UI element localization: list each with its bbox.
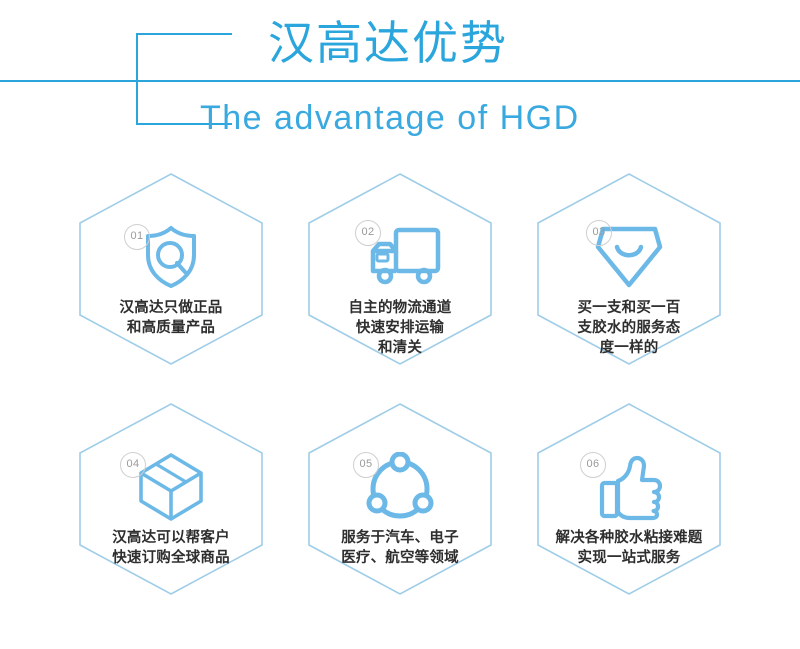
card-caption: 自主的物流通道 快速安排运输 和清关 xyxy=(299,298,501,358)
caption-line: 买一支和买一百 xyxy=(528,298,730,318)
gem-smile-icon xyxy=(534,216,724,298)
page-header: 汉高达优势 The advantage of HGD xyxy=(0,0,800,160)
card-caption: 解决各种胶水粘接难题 实现一站式服务 xyxy=(528,528,730,568)
caption-line: 汉高达可以帮客户 xyxy=(70,528,272,548)
advantage-card-06[interactable]: 06 解决各种胶水粘接难题 实现一站式服务 xyxy=(534,400,724,598)
card-caption: 服务于汽车、电子 医疗、航空等领域 xyxy=(299,528,501,568)
network-nodes-icon xyxy=(305,446,495,528)
advantage-card-02[interactable]: 02 自主的物流通道 快速安排运输 和清关 xyxy=(305,170,495,368)
package-box-icon xyxy=(76,446,266,528)
shield-quality-icon xyxy=(76,216,266,298)
advantage-hex-grid: 01 汉高达只做正品 和高质量产品 02 xyxy=(0,160,800,649)
header-divider-line xyxy=(0,80,800,82)
card-number-badge: 02 xyxy=(355,220,381,246)
card-caption: 汉高达只做正品 和高质量产品 xyxy=(70,298,272,338)
caption-line: 服务于汽车、电子 xyxy=(299,528,501,548)
card-number-badge: 05 xyxy=(353,452,379,478)
caption-line: 和清关 xyxy=(299,338,501,358)
caption-line: 汉高达只做正品 xyxy=(70,298,272,318)
advantage-card-03[interactable]: 03 买一支和买一百 支胶水的服务态 度一样的 xyxy=(534,170,724,368)
caption-line: 快速订购全球商品 xyxy=(70,548,272,568)
card-number-badge: 06 xyxy=(580,452,606,478)
caption-line: 实现一站式服务 xyxy=(528,548,730,568)
caption-line: 度一样的 xyxy=(528,338,730,358)
delivery-truck-icon xyxy=(305,216,495,298)
card-number-badge: 01 xyxy=(124,224,150,250)
caption-line: 快速安排运输 xyxy=(299,318,501,338)
thumbs-up-icon xyxy=(534,446,724,528)
page-title-chinese: 汉高达优势 xyxy=(268,14,508,72)
card-number-badge: 03 xyxy=(586,220,612,246)
card-caption: 买一支和买一百 支胶水的服务态 度一样的 xyxy=(528,298,730,358)
caption-line: 支胶水的服务态 xyxy=(528,318,730,338)
caption-line: 医疗、航空等领域 xyxy=(299,548,501,568)
advantage-card-04[interactable]: 04 汉高达可以帮客户 快速订购全球商品 xyxy=(76,400,266,598)
advantage-card-05[interactable]: 05 服务于汽车、电子 医疗、航空等领域 xyxy=(305,400,495,598)
caption-line: 解决各种胶水粘接难题 xyxy=(528,528,730,548)
card-caption: 汉高达可以帮客户 快速订购全球商品 xyxy=(70,528,272,568)
caption-line: 自主的物流通道 xyxy=(299,298,501,318)
advantage-card-01[interactable]: 01 汉高达只做正品 和高质量产品 xyxy=(76,170,266,368)
advantage-infographic-page: 汉高达优势 The advantage of HGD 01 汉高达只做正品 和高… xyxy=(0,0,800,649)
page-subtitle-english: The advantage of HGD xyxy=(200,95,580,141)
caption-line: 和高质量产品 xyxy=(70,318,272,338)
card-number-badge: 04 xyxy=(120,452,146,478)
